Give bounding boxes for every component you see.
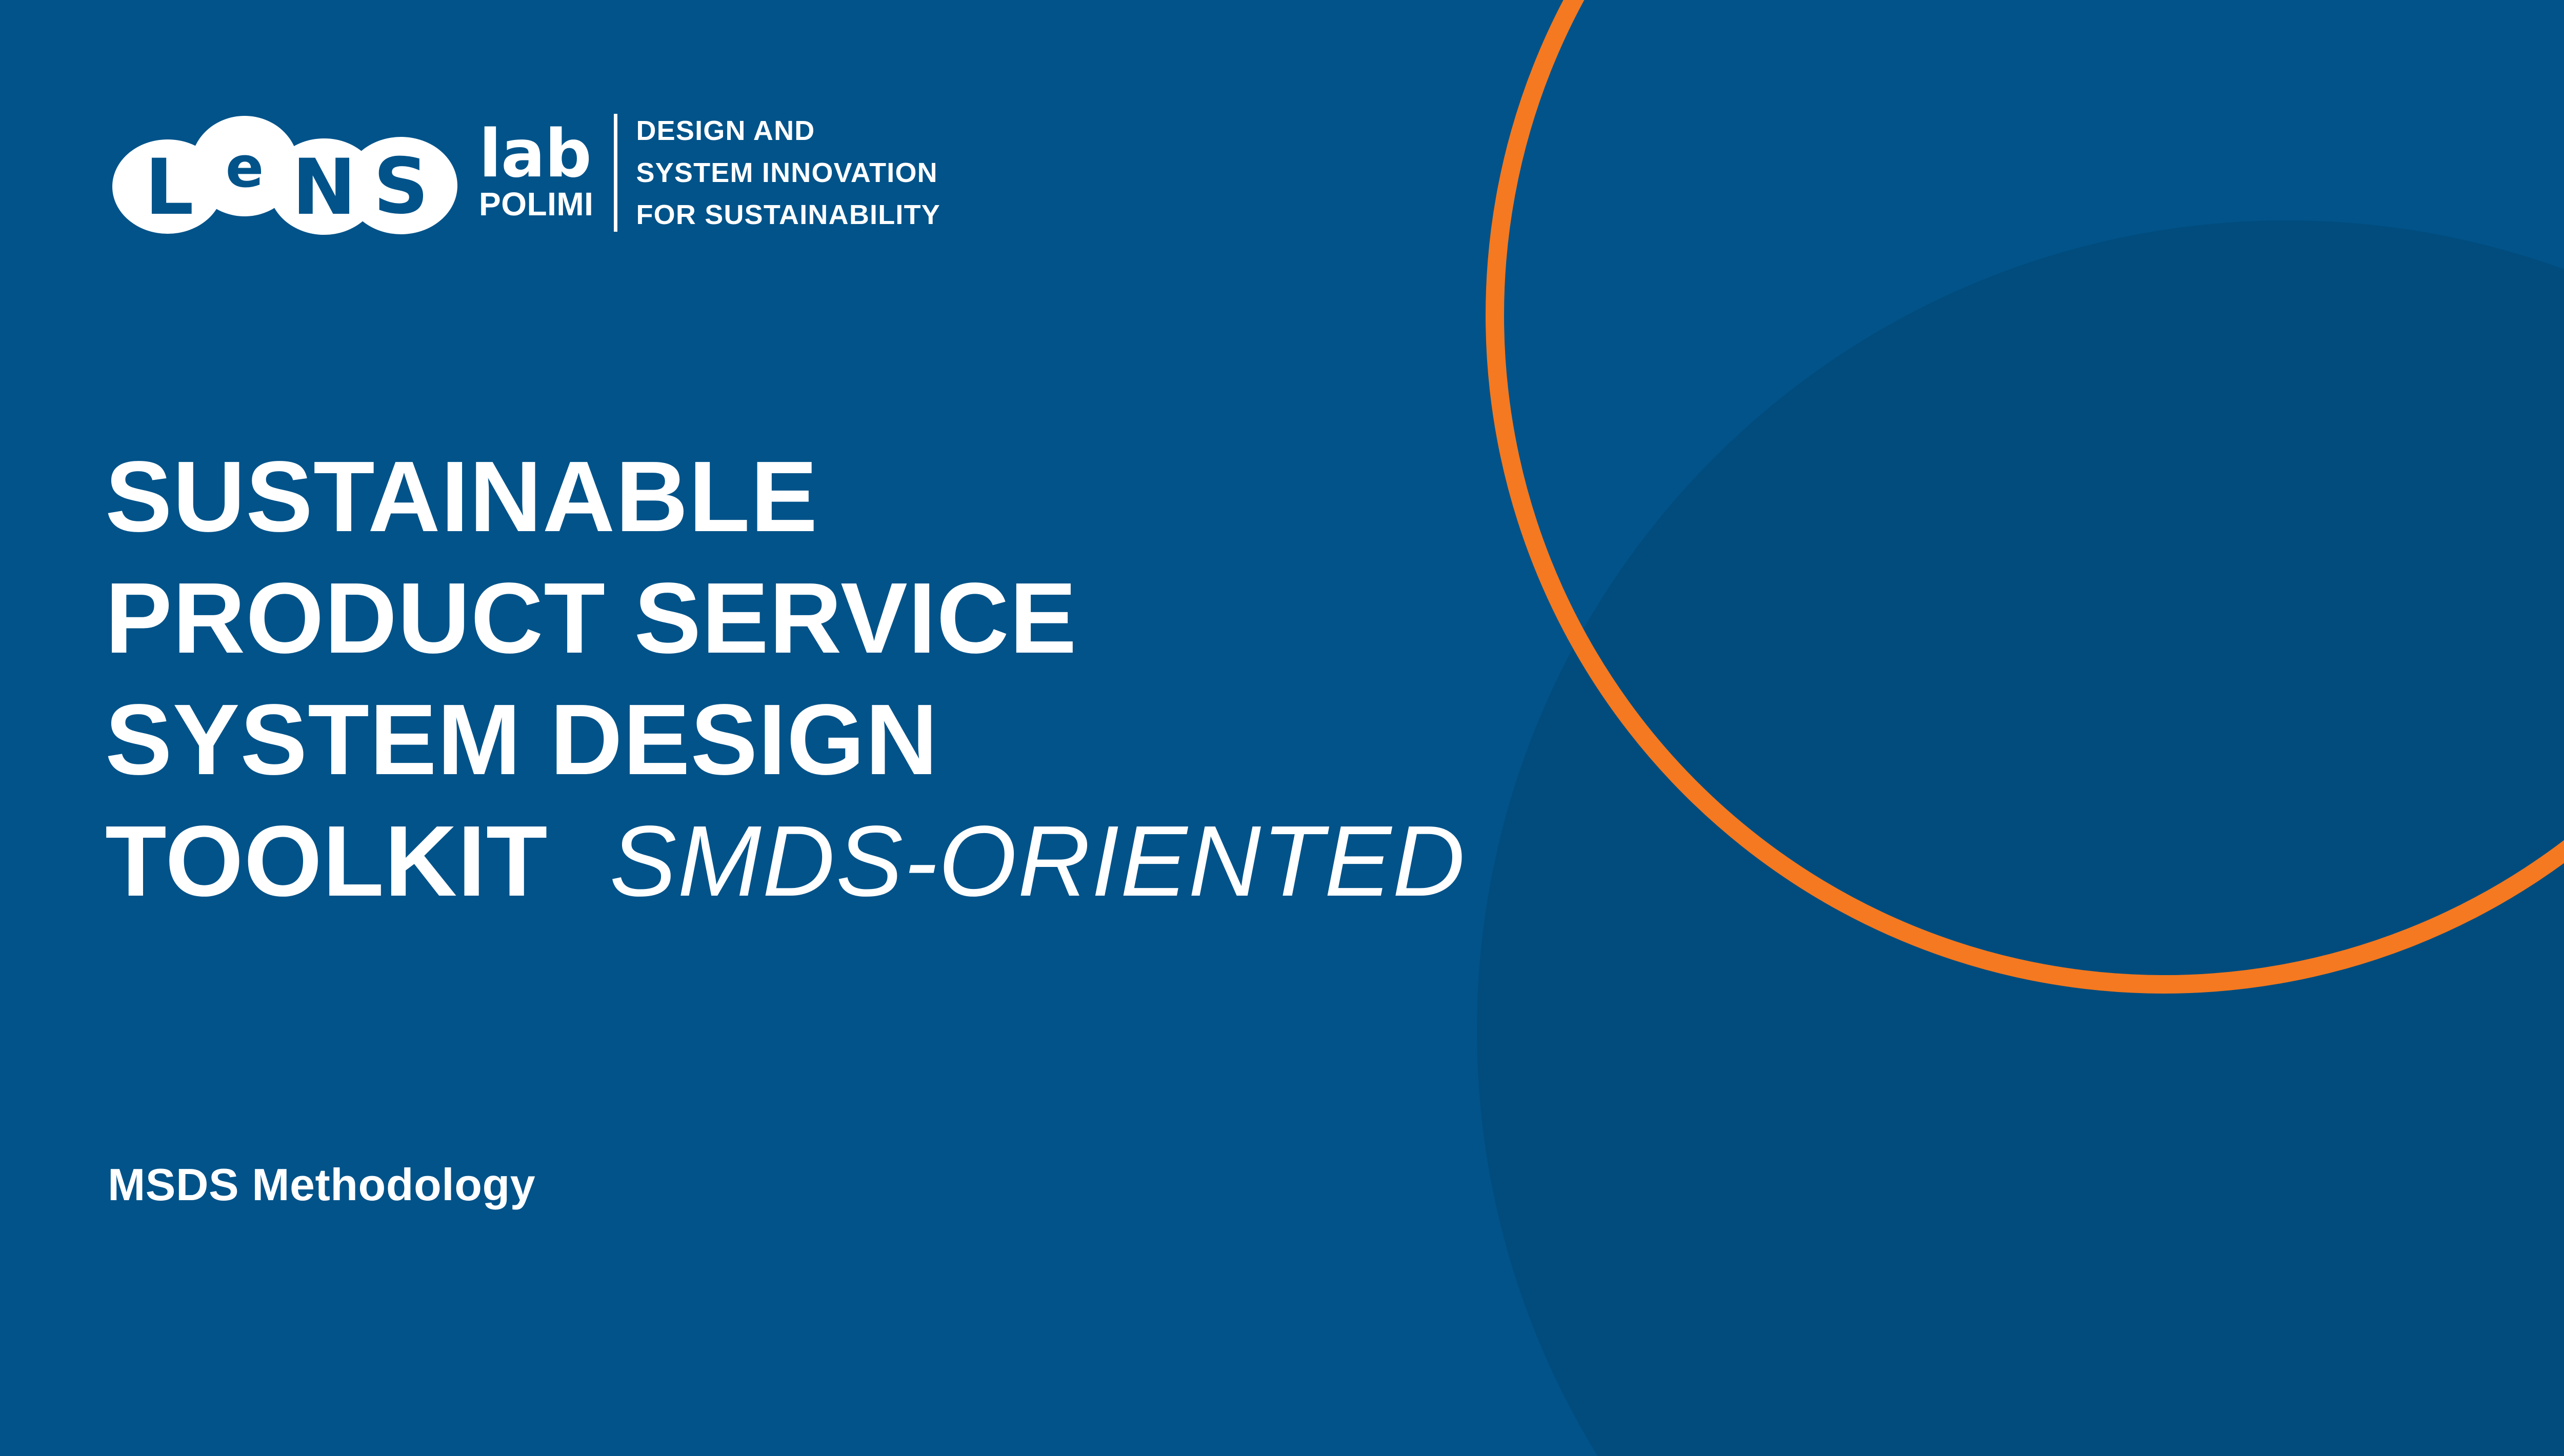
lab-polimi-block: lab POLIMI <box>479 114 593 232</box>
logo-tagline: DESIGN AND SYSTEM INNOVATION FOR SUSTAIN… <box>636 111 940 234</box>
tagline-line-3: FOR SUSTAINABILITY <box>636 194 940 236</box>
title-line-2: PRODUCT SERVICE <box>105 557 2156 679</box>
subtitle: MSDS Methodology <box>108 1159 535 1211</box>
title-slide: L e N S lab POLIMI DESIGN AND SYSTEM INN… <box>0 0 2564 1456</box>
svg-text:L: L <box>145 143 194 232</box>
lens-lab-logo: L e N S lab POLIMI DESIGN AND SYSTEM INN… <box>109 109 940 237</box>
title-line-4: TOOLKITSMDS-ORIENTED <box>105 800 2156 922</box>
lens-wordmark-icon: L e N S <box>109 109 463 237</box>
svg-text:N: N <box>292 143 356 232</box>
tagline-line-2: SYSTEM INNOVATION <box>636 152 940 194</box>
title-line-1: SUSTAINABLE <box>105 436 2156 557</box>
polimi-label: POLIMI <box>479 187 593 221</box>
tagline-line-1: DESIGN AND <box>636 110 940 152</box>
logo-divider <box>614 114 617 232</box>
title-line-4-secondary: SMDS-ORIENTED <box>610 805 1466 917</box>
page-title: SUSTAINABLE PRODUCT SERVICE SYSTEM DESIG… <box>105 436 2156 922</box>
svg-text:S: S <box>373 142 429 231</box>
lab-label: lab <box>479 124 593 185</box>
title-line-3: SYSTEM DESIGN <box>105 679 2156 800</box>
title-line-4-primary: TOOLKIT <box>105 805 548 917</box>
svg-text:e: e <box>226 134 264 200</box>
